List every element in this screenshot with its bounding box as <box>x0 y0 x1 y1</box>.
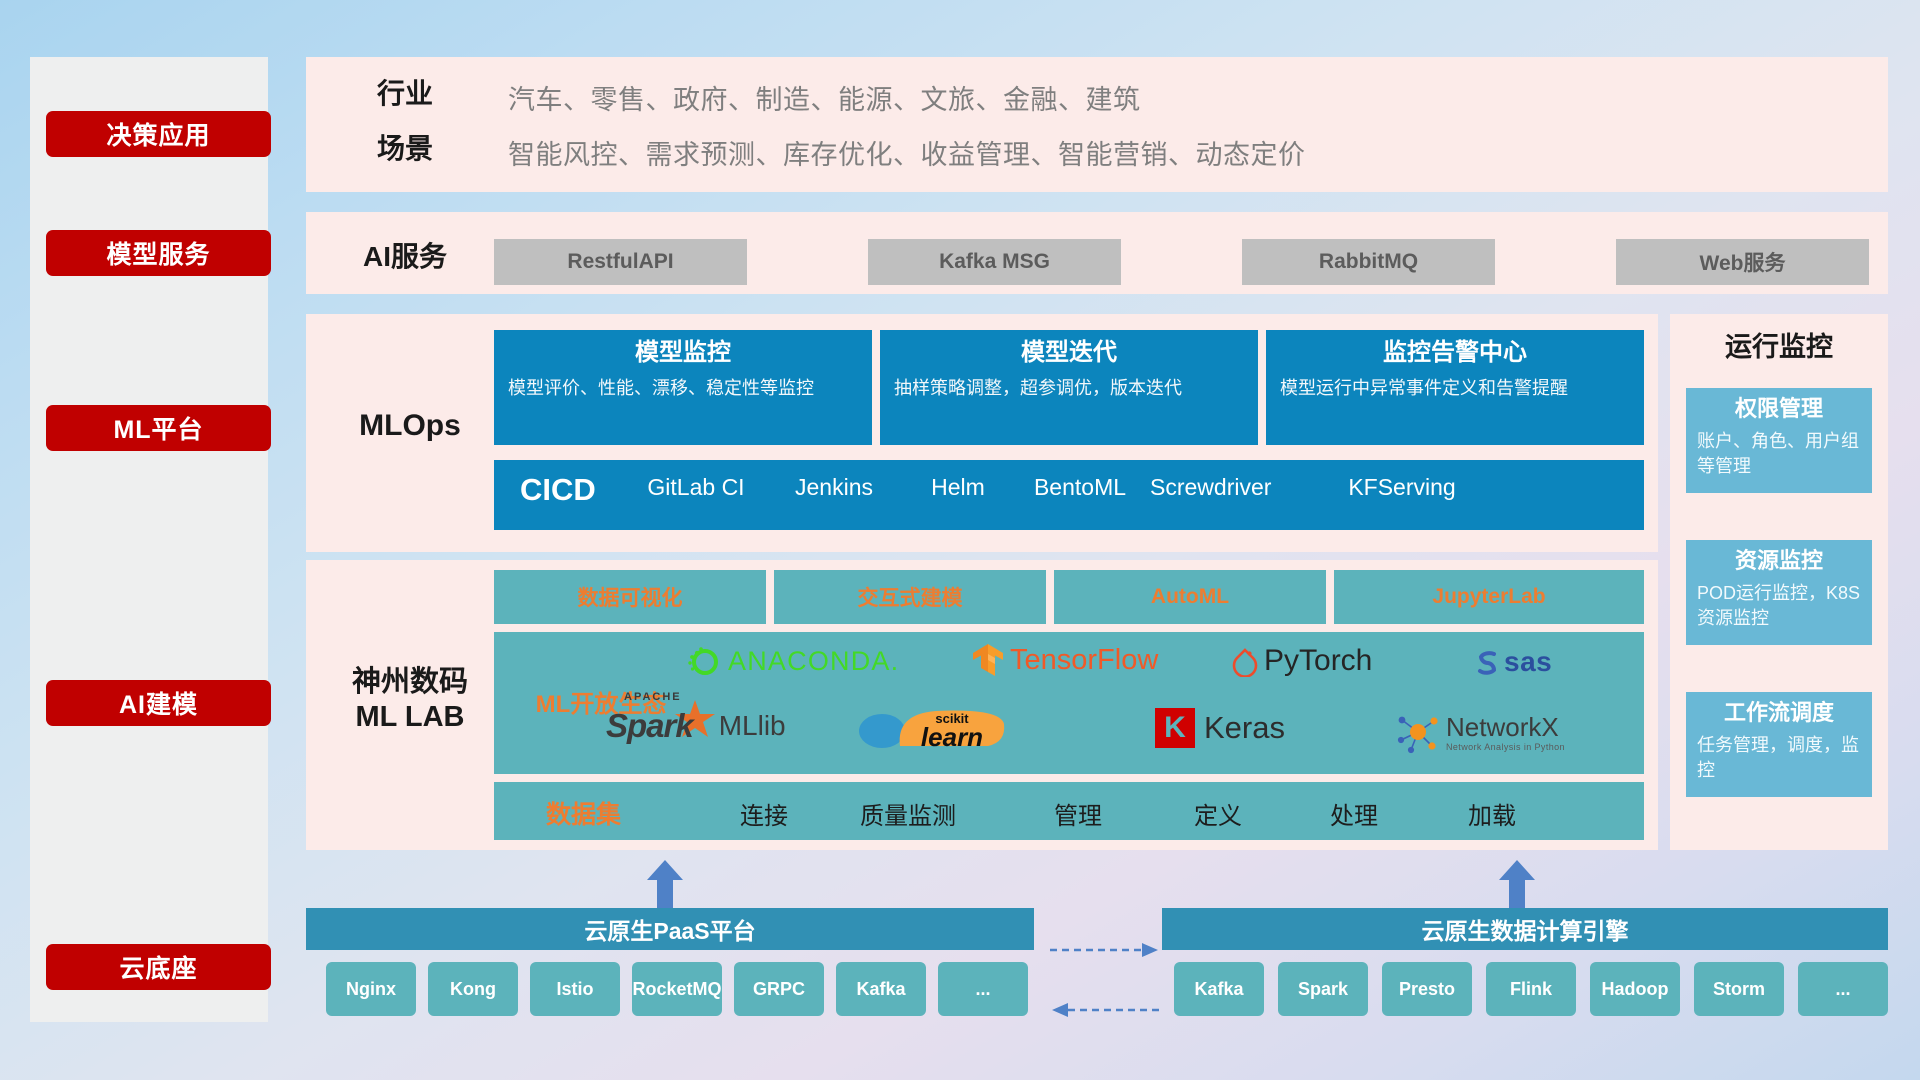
card-title: 资源监控 <box>1697 548 1861 574</box>
cicd-title: CICD <box>520 472 596 508</box>
keras-wordmark: Keras <box>1204 710 1285 746</box>
arrow-left-dashed-icon <box>1050 1000 1160 1020</box>
scikit-learn-logo: scikit learn <box>858 710 1008 750</box>
spark-mllib-logo: APACHE Spark MLlib <box>606 707 786 745</box>
card-title: 模型监控 <box>508 339 858 368</box>
cicd-item-bentoml[interactable]: BentoML <box>1024 474 1136 501</box>
networkx-graph-icon <box>1394 712 1442 754</box>
mlops-card-model-iteration[interactable]: 模型迭代 抽样策略调整，超参调优，版本迭代 <box>880 330 1258 445</box>
engine-tile-storm[interactable]: Storm <box>1694 962 1784 1016</box>
ai-service-chip-web[interactable]: Web服务 <box>1616 239 1869 285</box>
rail-item-ai-modeling[interactable]: AI建模 <box>46 680 271 726</box>
networkx-tagline: Network Analysis in Python <box>1446 742 1565 752</box>
keras-logo: K Keras <box>1155 708 1285 748</box>
cicd-item-jenkins[interactable]: Jenkins <box>778 474 890 501</box>
engine-tile-hadoop[interactable]: Hadoop <box>1590 962 1680 1016</box>
cicd-item-gitlab-ci[interactable]: GitLab CI <box>640 474 752 501</box>
dataset-item-load[interactable]: 加载 <box>1432 796 1552 831</box>
industry-value: 汽车、零售、政府、制造、能源、文旅、金融、建筑 <box>508 78 1141 117</box>
card-desc: 账户、角色、用户组等管理 <box>1697 429 1861 477</box>
dataset-item-define[interactable]: 定义 <box>1158 796 1278 831</box>
rail-item-cloud-base[interactable]: 云底座 <box>46 944 271 990</box>
engine-tile-spark[interactable]: Spark <box>1278 962 1368 1016</box>
ai-service-label: AI服务 <box>330 240 480 274</box>
ai-service-chip-kafka-msg[interactable]: Kafka MSG <box>868 239 1121 285</box>
ml-lab-label: 神州数码 ML LAB <box>320 665 500 736</box>
industry-label: 行业 <box>330 77 480 111</box>
anaconda-wordmark: ANACONDA. <box>728 646 899 677</box>
left-layer-rail <box>30 57 268 1022</box>
card-title: 模型迭代 <box>894 339 1244 368</box>
paas-tile-rocketmq[interactable]: RocketMQ <box>632 962 722 1016</box>
monitor-panel-title: 运行监控 <box>1670 325 1888 364</box>
sas-logo: sas <box>1472 646 1552 678</box>
sas-mark-icon <box>1472 647 1502 677</box>
monitor-card-resource[interactable]: 资源监控 POD运行监控，K8S资源监控 <box>1686 540 1872 645</box>
cicd-item-helm[interactable]: Helm <box>902 474 1014 501</box>
dataset-item-manage[interactable]: 管理 <box>1018 796 1138 831</box>
tensorflow-logo: TensorFlow <box>972 642 1158 678</box>
paas-platform-header: 云原生PaaS平台 <box>306 908 1034 950</box>
dataset-bar: 数据集 连接 质量监测 管理 定义 处理 加载 <box>494 782 1644 840</box>
ml-lab-label-line2: ML LAB <box>320 700 500 735</box>
engine-tile-more[interactable]: ... <box>1798 962 1888 1016</box>
rail-item-model-service[interactable]: 模型服务 <box>46 230 271 276</box>
scene-label: 场景 <box>330 132 480 166</box>
sas-wordmark: sas <box>1504 646 1552 678</box>
monitor-card-workflow[interactable]: 工作流调度 任务管理，调度，监控 <box>1686 692 1872 797</box>
paas-tile-istio[interactable]: Istio <box>530 962 620 1016</box>
card-title: 工作流调度 <box>1697 700 1861 726</box>
paas-tile-kong[interactable]: Kong <box>428 962 518 1016</box>
card-title: 监控告警中心 <box>1280 339 1630 368</box>
spark-wordmark: Spark <box>606 707 693 744</box>
pytorch-flame-icon <box>1231 645 1259 677</box>
engine-tile-kafka[interactable]: Kafka <box>1174 962 1264 1016</box>
apache-wordmark: APACHE <box>624 691 682 703</box>
architecture-diagram: 决策应用 模型服务 ML平台 AI建模 云底座 行业 汽车、零售、政府、制造、能… <box>0 0 1920 1080</box>
cicd-bar: CICD GitLab CI Jenkins Helm BentoML Scre… <box>494 460 1644 530</box>
pytorch-wordmark: PyTorch <box>1264 644 1372 678</box>
anaconda-logo: ANACONDA. <box>686 644 899 678</box>
cicd-item-kfserving[interactable]: KFServing <box>1346 474 1458 501</box>
card-desc: 模型评价、性能、漂移、稳定性等监控 <box>508 377 858 401</box>
ai-service-chip-rabbitmq[interactable]: RabbitMQ <box>1242 239 1495 285</box>
tensorflow-mark-icon <box>972 642 1004 678</box>
ml-open-ecosystem-box: ML开放生态 ANACONDA. TensorFlow <box>494 632 1644 774</box>
monitor-card-permission[interactable]: 权限管理 账户、角色、用户组等管理 <box>1686 388 1872 493</box>
lab-chip-jupyterlab[interactable]: JupyterLab <box>1334 570 1644 624</box>
dataset-title: 数据集 <box>546 795 621 831</box>
networkx-logo: NetworkX Network Analysis in Python <box>1394 712 1565 754</box>
engine-tile-presto[interactable]: Presto <box>1382 962 1472 1016</box>
dataset-item-quality-monitor[interactable]: 质量监测 <box>848 796 968 831</box>
ai-service-chip-restfulapi[interactable]: RestfulAPI <box>494 239 747 285</box>
dataset-item-connect[interactable]: 连接 <box>704 796 824 831</box>
pytorch-logo: PyTorch <box>1231 644 1372 678</box>
paas-tile-kafka[interactable]: Kafka <box>836 962 926 1016</box>
paas-tile-nginx[interactable]: Nginx <box>326 962 416 1016</box>
arrow-right-dashed-icon <box>1050 940 1160 960</box>
paas-tile-more[interactable]: ... <box>938 962 1028 1016</box>
lab-chip-interactive-modeling[interactable]: 交互式建模 <box>774 570 1046 624</box>
card-title: 权限管理 <box>1697 396 1861 422</box>
anaconda-ring-icon <box>686 644 720 678</box>
card-desc: POD运行监控，K8S资源监控 <box>1697 581 1861 629</box>
tensorflow-wordmark: TensorFlow <box>1010 644 1158 677</box>
engine-tile-flink[interactable]: Flink <box>1486 962 1576 1016</box>
lab-chip-automl[interactable]: AutoML <box>1054 570 1326 624</box>
ml-lab-label-line1: 神州数码 <box>320 665 500 700</box>
keras-mark: K <box>1155 708 1195 748</box>
card-desc: 抽样策略调整，超参调优，版本迭代 <box>894 377 1244 401</box>
mlops-card-alert-center[interactable]: 监控告警中心 模型运行中异常事件定义和告警提醒 <box>1266 330 1644 445</box>
dataset-item-process[interactable]: 处理 <box>1294 796 1414 831</box>
scene-value: 智能风控、需求预测、库存优化、收益管理、智能营销、动态定价 <box>508 133 1306 172</box>
learn-word: learn <box>896 726 1008 749</box>
card-desc: 模型运行中异常事件定义和告警提醒 <box>1280 377 1630 401</box>
data-engine-header: 云原生数据计算引擎 <box>1162 908 1888 950</box>
rail-item-ml-platform[interactable]: ML平台 <box>46 405 271 451</box>
networkx-wordmark: NetworkX <box>1446 714 1565 740</box>
mlops-card-model-monitor[interactable]: 模型监控 模型评价、性能、漂移、稳定性等监控 <box>494 330 872 445</box>
paas-tile-grpc[interactable]: GRPC <box>734 962 824 1016</box>
card-desc: 任务管理，调度，监控 <box>1697 733 1861 781</box>
rail-item-decision-app[interactable]: 决策应用 <box>46 111 271 157</box>
mllib-wordmark: MLlib <box>719 710 786 742</box>
mlops-label: MLOps <box>330 408 490 445</box>
cicd-item-screwdriver[interactable]: Screwdriver <box>1150 474 1262 501</box>
lab-chip-data-visualization[interactable]: 数据可视化 <box>494 570 766 624</box>
